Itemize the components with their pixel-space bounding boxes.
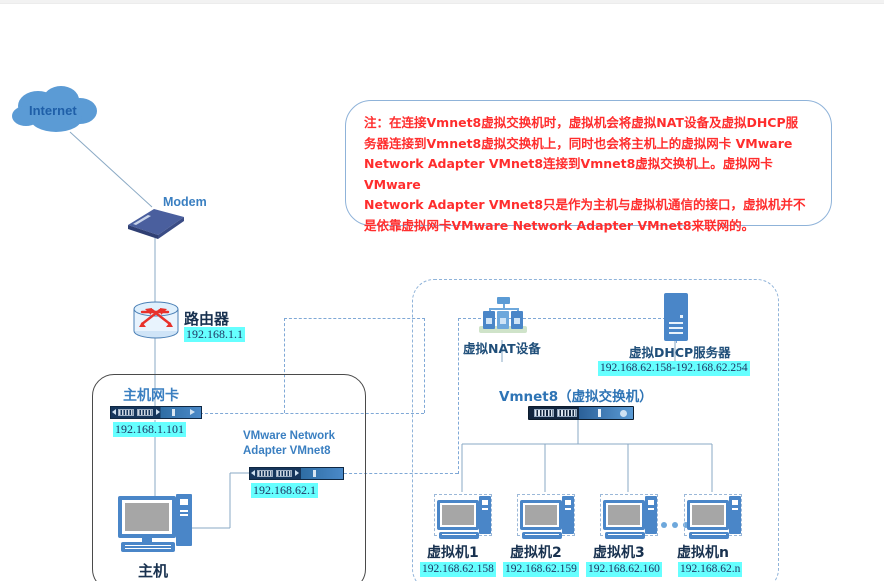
vm-3-label: 虚拟机3 <box>593 542 645 562</box>
vmnet8-switch-label: Vmnet8（虚拟交换机） <box>499 385 653 405</box>
nat-cluster-icon <box>479 297 527 337</box>
dashed-link-nat-top <box>284 318 425 319</box>
internet-label: Internet <box>29 103 77 118</box>
nat-device-label: 虚拟NAT设备 <box>463 338 541 357</box>
note-line-1: 注：在连接Vmnet8虚拟交换机时，虚拟机会将虚拟NAT设备及虚拟DHCP服 <box>364 113 813 134</box>
vm-3-ip: 192.168.62.160 <box>586 562 662 577</box>
host-nic-ip: 192.168.1.101 <box>113 422 186 437</box>
window-top-edge <box>0 0 884 4</box>
network-diagram-canvas: 注：在连接Vmnet8虚拟交换机时，虚拟机会将虚拟NAT设备及虚拟DHCP服 务… <box>0 0 884 581</box>
vm-1-computer-icon <box>437 496 493 540</box>
modem-label: Modem <box>163 195 207 209</box>
vmnet8-adapter-ip: 192.168.62.1 <box>251 483 318 498</box>
host-label: 主机 <box>138 560 168 581</box>
note-line-5: 是依靠虚拟网卡VMware Network Adapter VMnet8来联网的… <box>364 216 813 237</box>
note-line-2: 务器连接到Vmnet8虚拟交换机上，同时也会将主机上的虚拟网卡 VMware <box>364 134 813 155</box>
router-icon <box>130 300 182 340</box>
router-ip: 192.168.1.1 <box>184 327 245 342</box>
vmnet8-adapter-label-line2: Adapter VMnet8 <box>243 445 331 457</box>
dhcp-server-label: 虚拟DHCP服务器 <box>629 342 731 361</box>
note-line-4: Network Adapter VMnet8只是作为主机与虚拟机通信的接口，虚拟… <box>364 195 813 216</box>
vm-1-ip: 192.168.62.158 <box>420 562 496 577</box>
vmnet8-adapter-nic-icon <box>249 467 344 480</box>
vm-n-ip: 192.168.62.n <box>678 562 742 577</box>
vm-3-computer-icon <box>603 496 659 540</box>
host-nic-label: 主机网卡 <box>123 385 179 405</box>
vm-2-ip: 192.168.62.159 <box>503 562 579 577</box>
vm-n-computer-icon <box>687 496 743 540</box>
vm-2-label: 虚拟机2 <box>510 542 562 562</box>
vmnet8-adapter-label-line1: VMware Network <box>243 430 335 442</box>
vm-1-label: 虚拟机1 <box>427 542 479 562</box>
dhcp-server-ip-range: 192.168.62.158-192.168.62.254 <box>598 361 750 376</box>
router-label: 路由器 <box>184 308 229 329</box>
note-line-3: Network Adapter VMnet8连接到Vmnet8虚拟交换机上。虚拟… <box>364 154 813 195</box>
server-icon <box>664 293 688 341</box>
host-computer-icon <box>118 494 192 554</box>
note-callout: 注：在连接Vmnet8虚拟交换机时，虚拟机会将虚拟NAT设备及虚拟DHCP服 务… <box>345 100 832 226</box>
nic-icon <box>110 406 202 419</box>
vm-n-label: 虚拟机n <box>677 542 729 562</box>
switch-icon <box>528 406 634 420</box>
vm-2-computer-icon <box>520 496 576 540</box>
